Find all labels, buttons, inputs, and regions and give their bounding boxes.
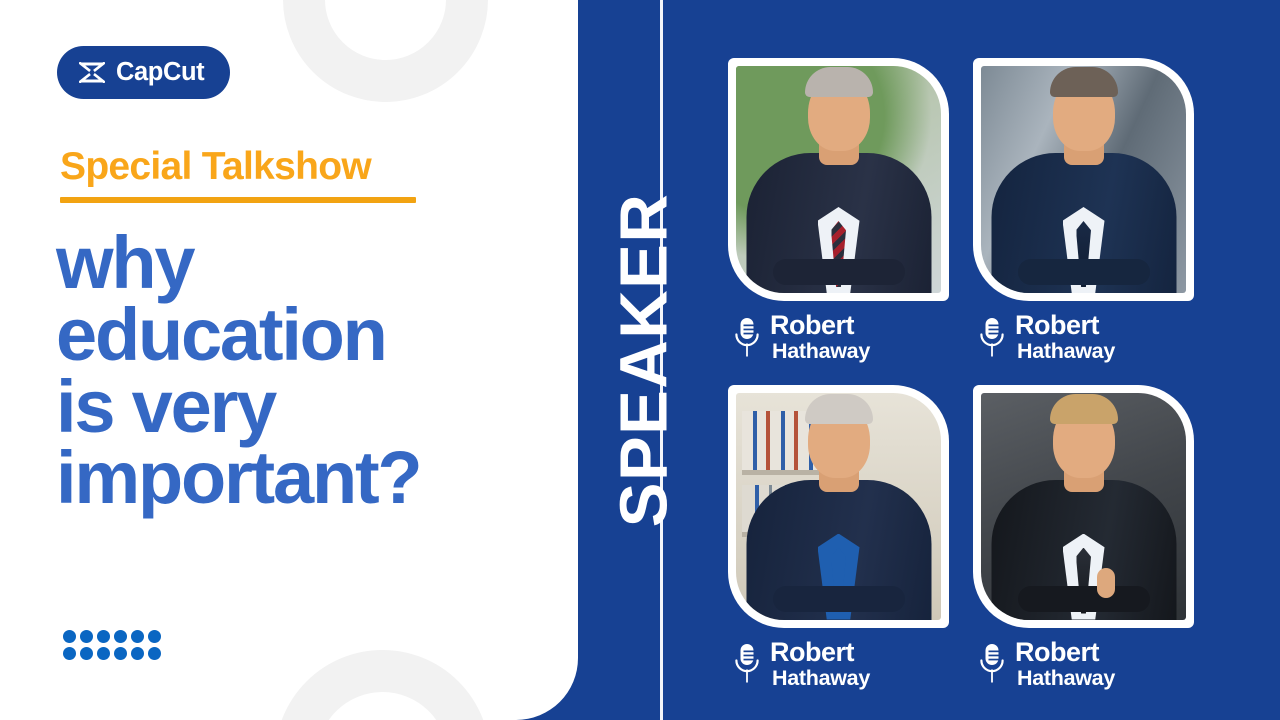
portrait-hair [1050,394,1118,424]
speaker-first-name: Robert [1015,312,1115,339]
speaker-card[interactable]: Robert Hathaway [728,58,949,363]
speaker-photo [736,393,941,620]
speaker-name-row: Robert Hathaway [973,312,1194,363]
speaker-grid: Robert Hathaway [728,58,1208,689]
portrait-crossed-arms [773,586,905,612]
dot [63,630,76,643]
dot [97,630,110,643]
microphone-icon [734,317,760,358]
speaker-card[interactable]: Robert Hathaway [973,58,1194,363]
speaker-name-row: Robert Hathaway [973,639,1194,690]
dot [63,647,76,660]
left-content-panel: CapCut Special Talkshow why education is… [0,0,578,720]
speaker-first-name: Robert [1015,639,1115,666]
dot [131,630,144,643]
dot [148,630,161,643]
kicker-block: Special Talkshow [60,147,416,203]
speaker-name: Robert Hathaway [1015,639,1115,690]
headline-line-2: education [56,299,536,371]
speaker-last-name: Hathaway [1017,668,1115,690]
portrait-hair [805,67,873,97]
speaker-last-name: Hathaway [1017,341,1115,363]
speaker-vertical-rail: SPEAKER [578,0,710,720]
microphone-icon [979,643,1005,684]
speaker-photo [981,393,1186,620]
portrait-illustration [736,66,941,293]
dot-cell [146,628,163,645]
speaker-card[interactable]: Robert Hathaway [728,385,949,690]
speaker-last-name: Hathaway [772,341,870,363]
portrait-crossed-arms [773,259,905,285]
dot [148,647,161,660]
kicker-text: Special Talkshow [60,147,416,188]
dot [114,630,127,643]
page-title: why education is very important? [56,227,536,514]
speaker-name: Robert Hathaway [770,639,870,690]
speaker-name-row: Robert Hathaway [728,639,949,690]
speaker-photo-frame [973,385,1194,628]
speaker-name: Robert Hathaway [770,312,870,363]
portrait-hair [1050,67,1118,97]
speaker-name-row: Robert Hathaway [728,312,949,363]
portrait-thumbs-up-hand [1097,568,1115,598]
portrait-illustration [736,393,941,620]
dot-cell [78,645,95,662]
portrait-illustration [981,66,1186,293]
speaker-photo [981,66,1186,293]
dot-cell [61,645,78,662]
dot [97,647,110,660]
speaker-last-name: Hathaway [772,668,870,690]
dot-cell [112,628,129,645]
headline-line-4: important? [56,442,536,514]
speaker-name: Robert Hathaway [1015,312,1115,363]
microphone-icon [734,643,760,684]
portrait-crossed-arms [1018,259,1150,285]
speaker-photo-frame [973,58,1194,301]
speaker-first-name: Robert [770,312,870,339]
speaker-card[interactable]: Robert Hathaway [973,385,1194,690]
dot-cell [61,628,78,645]
portrait-crossed-arms [1018,586,1150,612]
speaker-poster: CapCut Special Talkshow why education is… [0,0,1280,720]
capcut-logo-icon [79,62,105,83]
speaker-section-label: SPEAKER [611,193,678,527]
speaker-photo-frame [728,58,949,301]
dot [131,647,144,660]
capcut-wordmark: CapCut [116,60,204,86]
dot-cell [146,645,163,662]
dot-cell [129,628,146,645]
decorative-ring-top [283,0,488,102]
capcut-brand-badge[interactable]: CapCut [57,46,230,99]
portrait-illustration [981,393,1186,620]
headline-line-3: is very [56,371,536,443]
kicker-underline [60,197,416,203]
dot-cell [129,645,146,662]
dot [114,647,127,660]
decorative-dot-grid [61,628,163,662]
portrait-hair [805,394,873,424]
dot [80,630,93,643]
headline-line-1: why [56,227,536,299]
decorative-ring-bottom [275,650,490,720]
microphone-icon [979,317,1005,358]
speaker-first-name: Robert [770,639,870,666]
speaker-photo [736,66,941,293]
speaker-photo-frame [728,385,949,628]
dot-cell [78,628,95,645]
dot-cell [95,645,112,662]
dot-cell [112,645,129,662]
dot-cell [95,628,112,645]
dot [80,647,93,660]
